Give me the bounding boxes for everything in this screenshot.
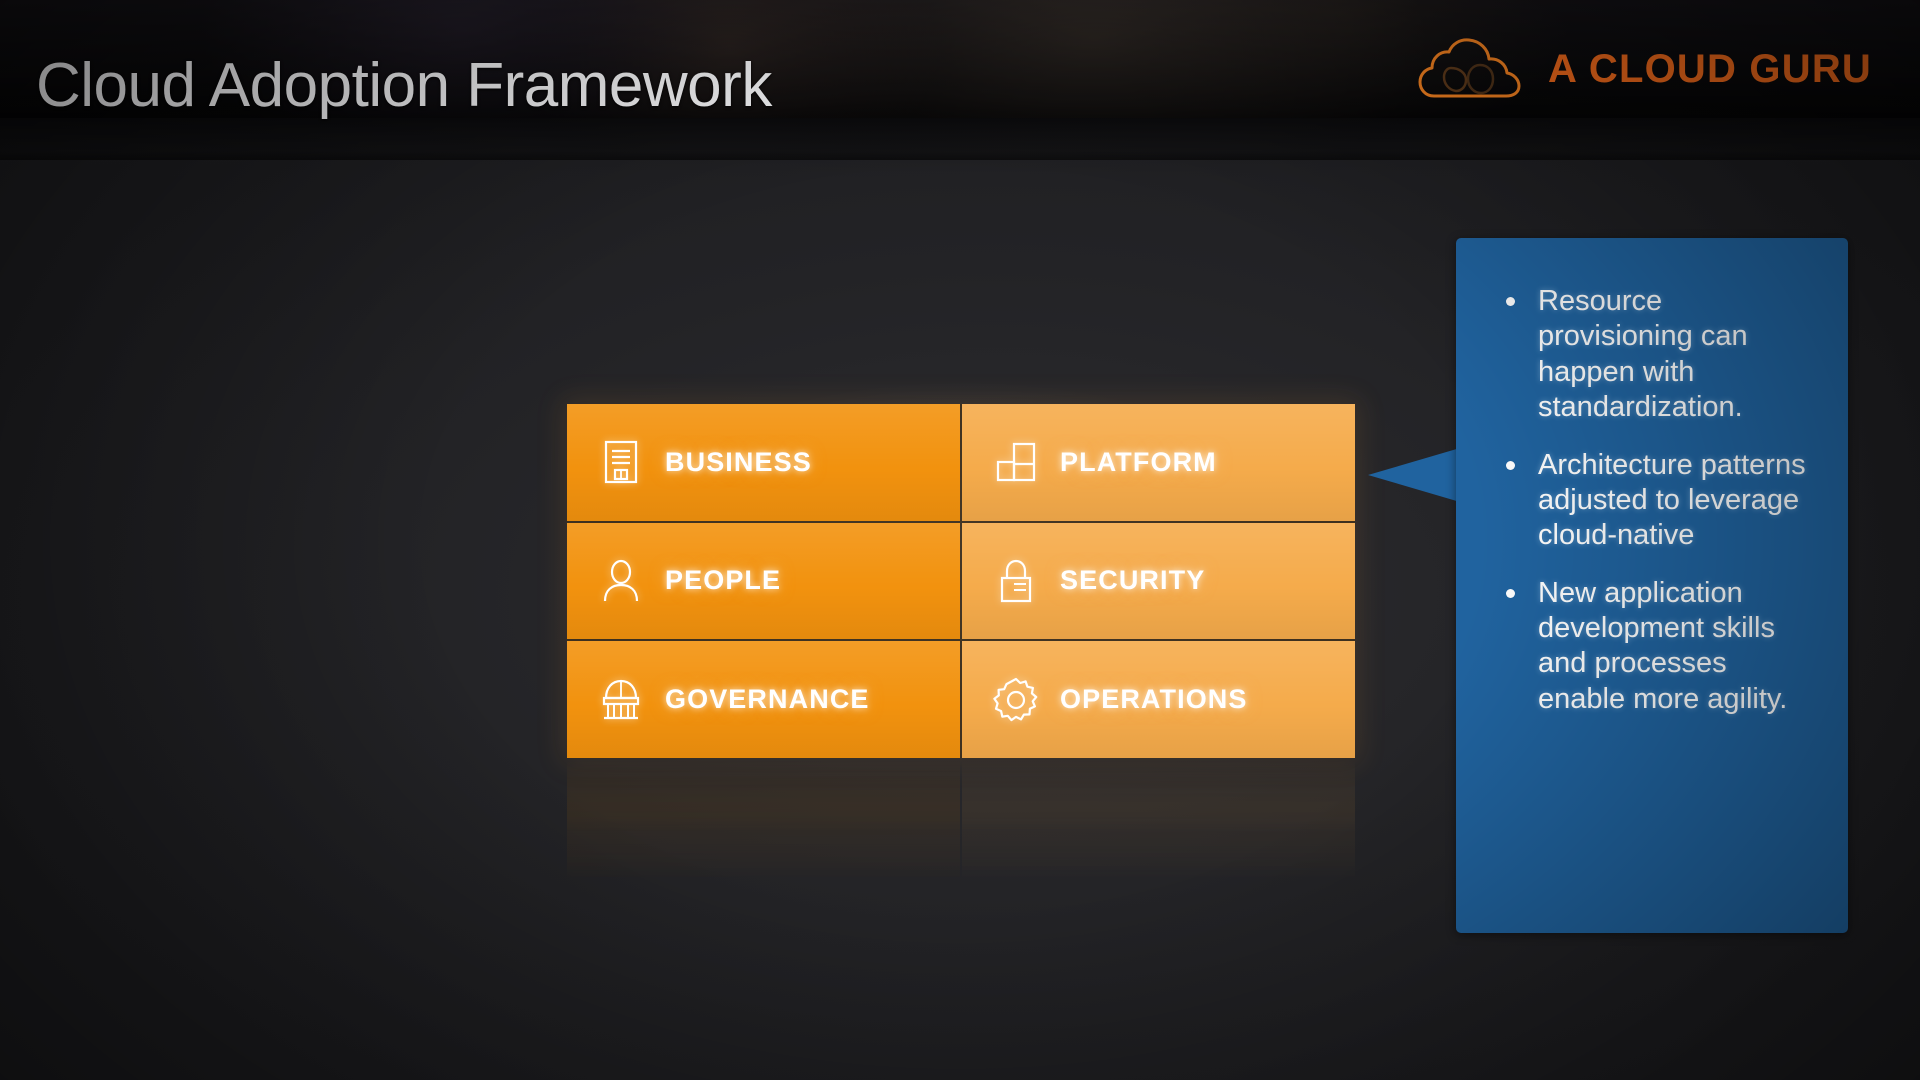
document-icon (597, 438, 645, 486)
cloud-outline-icon (1418, 38, 1526, 100)
framework-tile-grid: BUSINESS PLATFORM PEOPLE (567, 404, 1355, 758)
tile-label: PEOPLE (665, 565, 781, 596)
slide-canvas: Cloud Adoption Framework A CLOUD GURU (0, 0, 1920, 1080)
bullet-dot-icon (1506, 461, 1515, 470)
callout-bullet-item: New application development skills and p… (1500, 576, 1818, 718)
tile-platform[interactable]: PLATFORM (962, 404, 1355, 521)
callout-bullet-list: Resource provisioning can happen with st… (1456, 238, 1848, 933)
tile-governance[interactable]: GOVERNANCE (567, 641, 960, 758)
callout-pointer (1368, 448, 1460, 502)
callout-bullet-item: Resource provisioning can happen with st… (1500, 284, 1818, 426)
tile-operations[interactable]: OPERATIONS (962, 641, 1355, 758)
brand-name: A CLOUD GURU (1548, 47, 1872, 92)
callout-bullet-item: Architecture patterns adjusted to levera… (1500, 448, 1818, 554)
tile-label: BUSINESS (665, 447, 812, 478)
callout-bullet-text: Architecture patterns adjusted to levera… (1538, 449, 1806, 552)
bullet-dot-icon (1506, 297, 1515, 306)
bullet-dot-icon (1506, 589, 1515, 598)
page-title: Cloud Adoption Framework (36, 52, 772, 120)
callout-bullet-text: Resource provisioning can happen with st… (1538, 285, 1748, 423)
tile-label: SECURITY (1060, 565, 1205, 596)
padlock-icon (992, 557, 1040, 605)
gear-icon (992, 676, 1040, 724)
tile-business[interactable]: BUSINESS (567, 404, 960, 521)
blocks-icon (992, 438, 1040, 486)
person-icon (597, 557, 645, 605)
tile-people[interactable]: PEOPLE (567, 523, 960, 640)
tile-security[interactable]: SECURITY (962, 523, 1355, 640)
brand-logo: A CLOUD GURU (1418, 38, 1872, 100)
callout-bullet-text: New application development skills and p… (1538, 577, 1787, 715)
tile-label: GOVERNANCE (665, 684, 870, 715)
tile-label: PLATFORM (1060, 447, 1217, 478)
tile-label: OPERATIONS (1060, 684, 1248, 715)
building-icon (597, 676, 645, 724)
